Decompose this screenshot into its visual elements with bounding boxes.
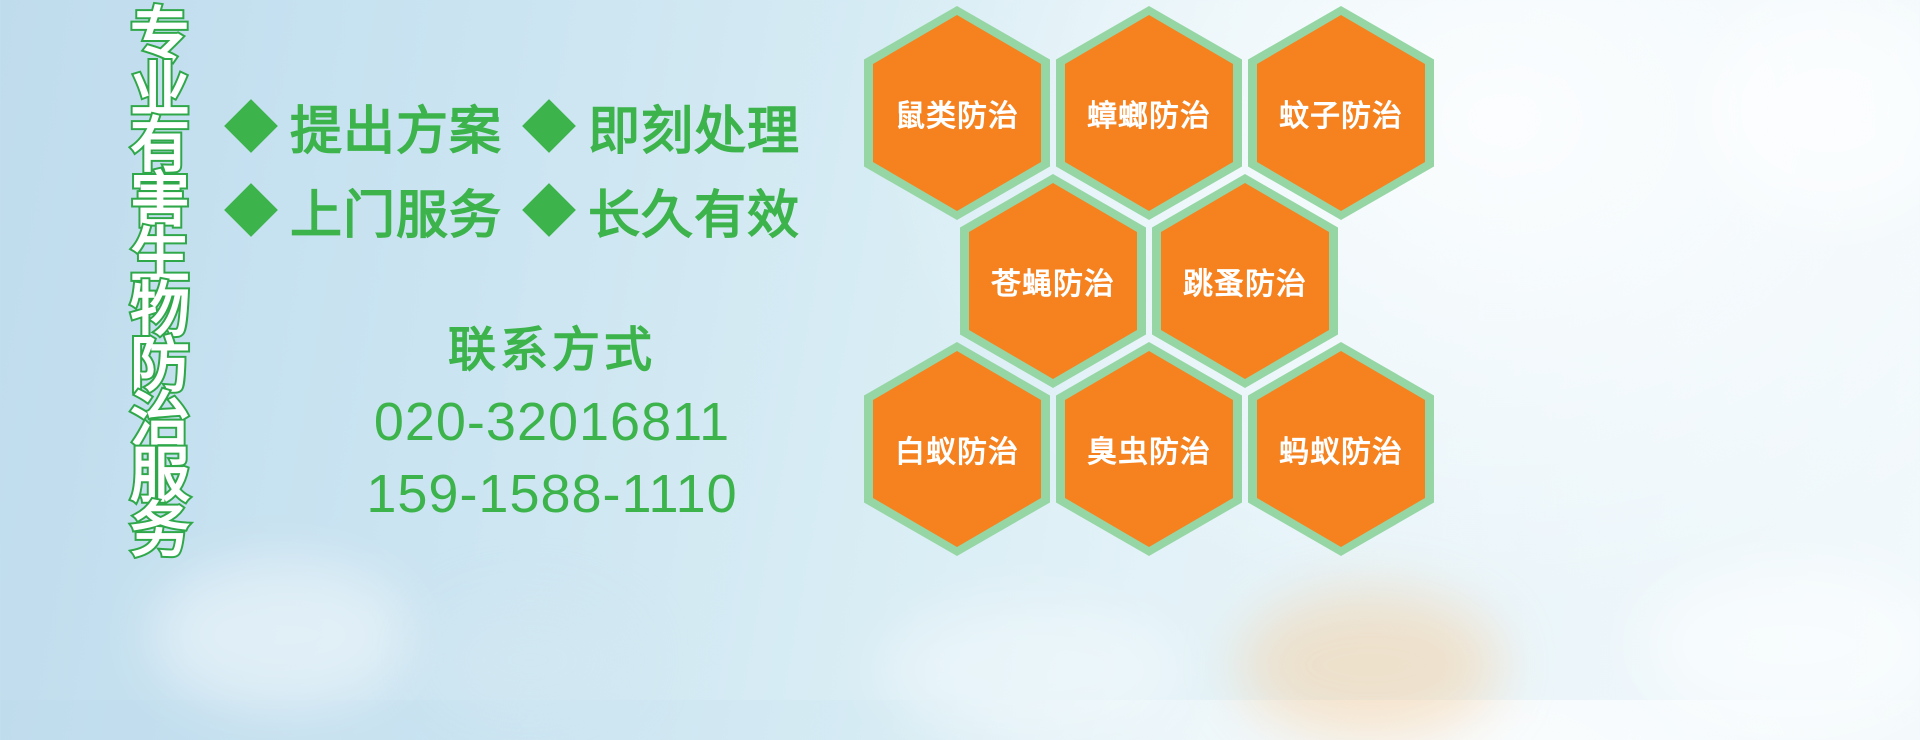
service-label: 鼠类防治 [895,91,1019,135]
service-hexagon-termite-control[interactable]: 白蚁防治 [864,342,1050,556]
service-hexagon-rodent-control[interactable]: 鼠类防治 [864,6,1050,220]
diamond-icon [224,99,278,153]
feature-item-long-lasting: 长久有效 [530,173,800,248]
hexagon-inner: 鼠类防治 [873,15,1041,211]
service-label: 白蚁防治 [895,427,1019,471]
vertical-slogan-char: 有 [130,118,190,173]
vertical-slogan-char: 防 [130,338,190,393]
feature-label: 即刻处理 [588,89,800,164]
service-hexagon-mosquito-control[interactable]: 蚊子防治 [1248,6,1434,220]
contact-heading: 联系方式 [232,316,872,386]
service-honeycomb: 鼠类防治 蟑螂防治 蚊子防治 苍蝇防治 跳蚤防治 白蚁防治 臭虫防治 蚂蚁防治 [862,0,1462,560]
hexagon-inner: 苍蝇防治 [969,183,1137,379]
service-hexagon-bedbug-control[interactable]: 臭虫防治 [1056,342,1242,556]
feature-item-propose-plan: 提出方案 [232,89,502,164]
feature-label: 上门服务 [290,173,502,248]
hexagon-inner: 臭虫防治 [1065,351,1233,547]
service-label: 跳蚤防治 [1183,259,1307,303]
feature-list: 提出方案 即刻处理 上门服务 长久有效 [232,84,872,252]
diamond-icon [522,183,576,237]
feature-row: 上门服务 长久有效 [232,168,872,252]
service-label: 蚂蚁防治 [1279,427,1403,471]
hexagon-inner: 跳蚤防治 [1161,183,1329,379]
hexagon-inner: 白蚁防治 [873,351,1041,547]
feature-item-onsite-service: 上门服务 [232,173,502,248]
service-hexagon-flea-control[interactable]: 跳蚤防治 [1152,174,1338,388]
feature-item-immediate-handling: 即刻处理 [530,89,800,164]
service-hexagon-fly-control[interactable]: 苍蝇防治 [960,174,1146,388]
hexagon-inner: 蟑螂防治 [1065,15,1233,211]
hexagon-inner: 蚂蚁防治 [1257,351,1425,547]
vertical-slogan-char: 服 [130,448,190,503]
background-bokeh-blob [1640,560,1920,730]
vertical-slogan-char: 治 [130,393,190,448]
contact-phone-landline[interactable]: 020-32016811 [232,386,872,458]
feature-row: 提出方案 即刻处理 [232,84,872,168]
background-bokeh-blob [430,600,630,720]
background-bokeh-blob [880,600,1180,740]
service-label: 臭虫防治 [1087,427,1211,471]
hexagon-inner: 蚊子防治 [1257,15,1425,211]
vertical-slogan-char: 务 [130,503,190,558]
vertical-slogan-char: 害 [130,173,190,228]
service-hexagon-cockroach-control[interactable]: 蟑螂防治 [1056,6,1242,220]
vertical-slogan-char: 业 [130,63,190,118]
background-bokeh-blob [1240,590,1500,740]
background-bokeh-blob [1700,0,1920,220]
feature-label: 提出方案 [290,89,502,164]
feature-label: 长久有效 [588,173,800,248]
vertical-slogan-char: 物 [130,283,190,338]
vertical-slogan-char: 专 [130,8,190,63]
service-label: 苍蝇防治 [991,259,1115,303]
contact-block: 联系方式 020-32016811 159-1588-1110 [232,316,872,530]
service-label: 蚊子防治 [1279,91,1403,135]
vertical-slogan-char: 生 [130,228,190,283]
vertical-slogan: 专 业 有 害 生 物 防 治 服 务 [104,8,216,558]
background-bokeh-blob [150,560,410,710]
contact-phone-mobile[interactable]: 159-1588-1110 [232,458,872,530]
service-label: 蟑螂防治 [1087,91,1211,135]
diamond-icon [224,183,278,237]
diamond-icon [522,99,576,153]
service-hexagon-ant-control[interactable]: 蚂蚁防治 [1248,342,1434,556]
